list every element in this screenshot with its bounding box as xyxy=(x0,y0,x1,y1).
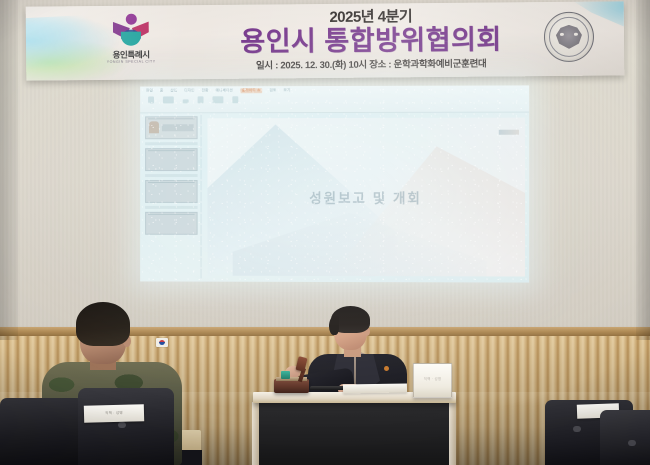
officer-hair xyxy=(76,302,130,346)
active-slide: 성원보고 및 개회 xyxy=(208,118,526,277)
ribbon-tab-list: 파일 홈 삽입 디자인 전환 애니메이션 슬라이드 쇼 검토 보기 xyxy=(146,88,290,93)
gavel-block xyxy=(274,379,309,393)
event-banner: 용인특례시 YONGIN SPECIAL CITY 2025년 4분기 용인시 … xyxy=(26,1,625,80)
font-icon xyxy=(163,96,174,103)
head-table-skirt xyxy=(258,402,451,465)
projection-screen: 파일 홈 삽입 디자인 전환 애니메이션 슬라이드 쇼 검토 보기 xyxy=(140,85,529,282)
slide-corner-logo xyxy=(499,130,519,135)
slide-thumbnail xyxy=(145,148,197,171)
arrange-icon xyxy=(212,96,223,103)
slide-thumbnail xyxy=(145,116,197,139)
ribbon-toolbar-icons xyxy=(148,96,238,103)
ribbon-tab: 전환 xyxy=(202,88,209,93)
gavel-green-marker xyxy=(281,371,290,379)
align-icon xyxy=(183,99,189,103)
chair-knob xyxy=(628,440,636,446)
slide-title-text: 성원보고 및 개회 xyxy=(208,187,526,207)
paste-icon xyxy=(148,96,154,103)
chair-nameplate-text: 직책 · 성명 xyxy=(84,410,144,417)
ribbon-tab: 보기 xyxy=(283,88,290,93)
foreground-chair-left xyxy=(0,398,84,465)
chair-nameplate-front: 직책 · 성명 xyxy=(84,404,144,423)
chair-knob xyxy=(573,426,581,432)
foreground-chair-center xyxy=(78,388,174,465)
left-vignette xyxy=(0,0,18,340)
korean-flag-patch-icon xyxy=(156,338,168,347)
chair-knob xyxy=(118,422,126,428)
chairman-hair-side xyxy=(329,316,339,335)
slide-thumbnail xyxy=(145,180,197,203)
ribbon-tab: 디자인 xyxy=(184,88,194,93)
meeting-room-photo: 용인특례시 YONGIN SPECIAL CITY 2025년 4분기 용인시 … xyxy=(0,0,650,465)
banner-glare xyxy=(26,1,625,80)
slide-thumbnail xyxy=(145,212,197,235)
table-leg-right xyxy=(449,402,456,465)
meeting-documents xyxy=(343,383,407,393)
table-leg-left xyxy=(252,402,259,465)
acrylic-name-stand: 직책 · 성명 xyxy=(413,363,452,398)
slide-thumbnail-panel xyxy=(142,114,201,279)
audience-chair xyxy=(600,410,650,465)
ribbon-tab: 애니메이션 xyxy=(216,88,233,93)
thumbnail-photo-icon xyxy=(149,121,159,133)
ribbon-tab-active: 슬라이드 쇼 xyxy=(240,88,263,93)
ribbon-tab: 검토 xyxy=(269,88,276,93)
presentation-ribbon: 파일 홈 삽입 디자인 전환 애니메이션 슬라이드 쇼 검토 보기 xyxy=(140,85,529,113)
shape-icon xyxy=(198,96,204,103)
editing-icon xyxy=(232,96,238,103)
ribbon-tab: 삽입 xyxy=(170,88,177,93)
ribbon-tab: 파일 xyxy=(146,89,153,94)
lapel-pin-icon xyxy=(384,366,389,371)
right-vignette xyxy=(636,0,650,340)
name-stand-text: 직책 · 성명 xyxy=(414,376,451,381)
ribbon-tab: 홈 xyxy=(160,88,163,93)
